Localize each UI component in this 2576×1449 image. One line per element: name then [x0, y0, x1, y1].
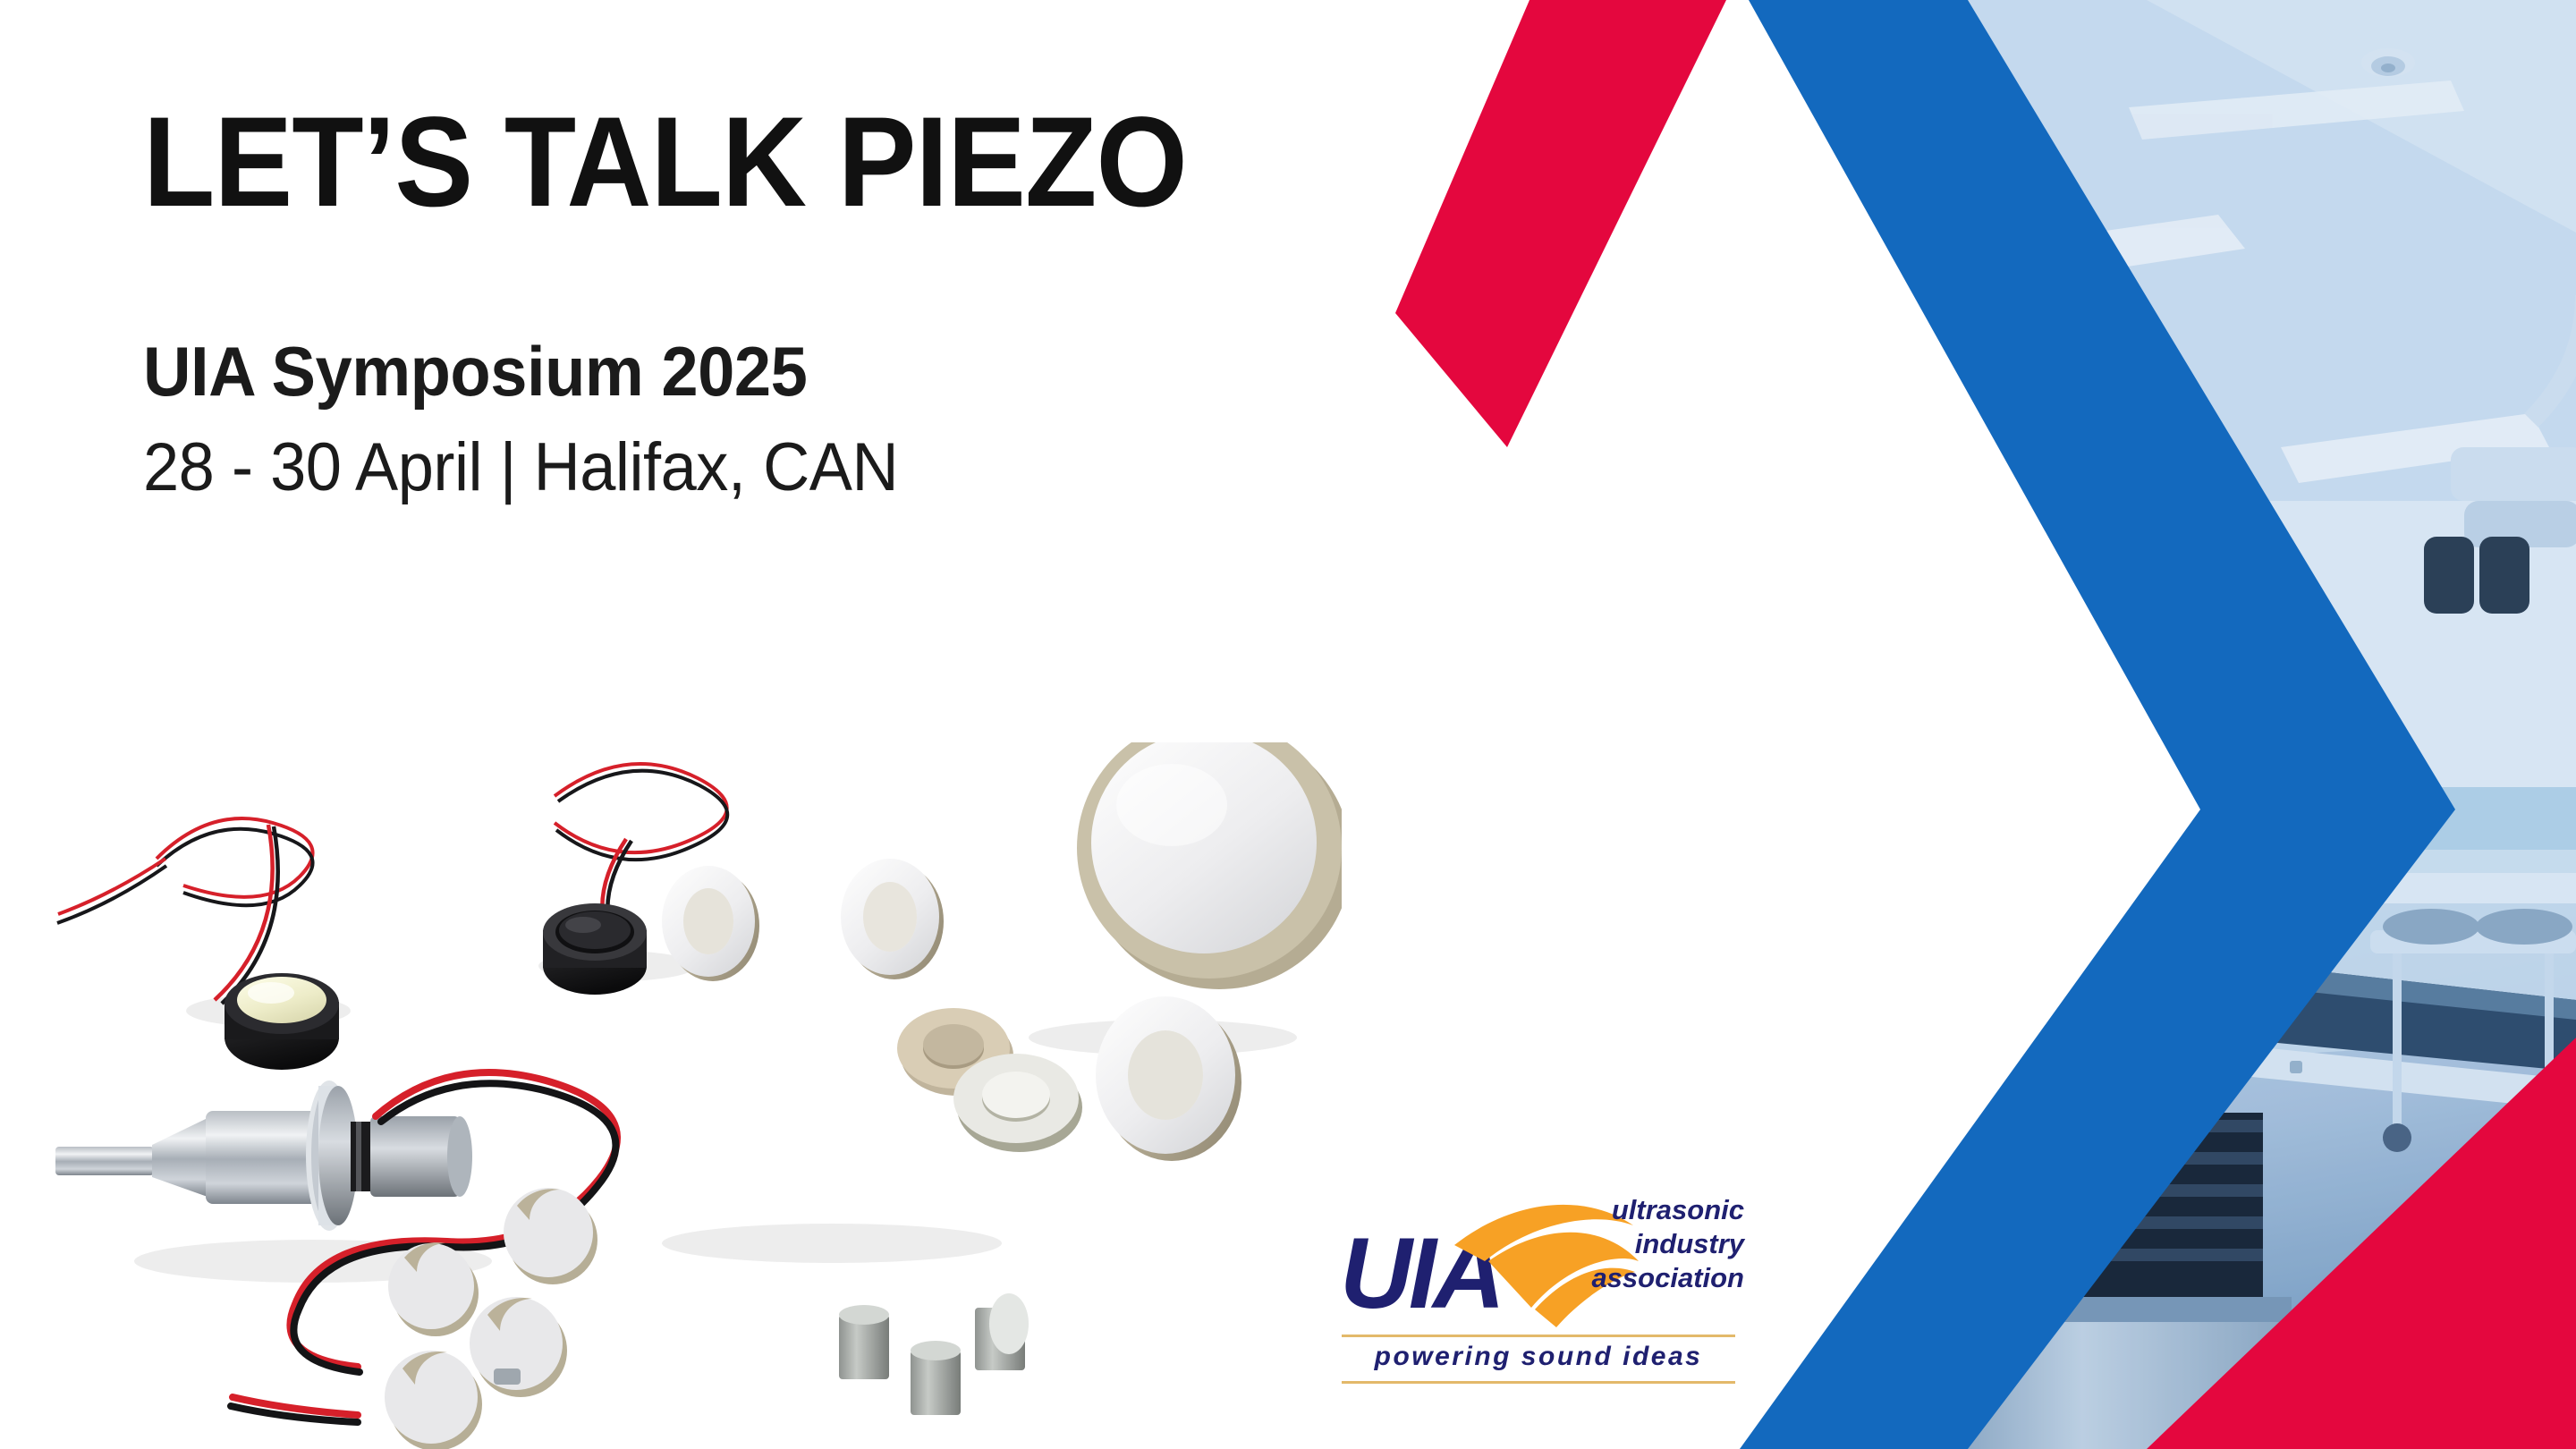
piezo-disc-small-3	[470, 1297, 567, 1397]
wall-panel	[1360, 617, 1467, 921]
piezo-components-svg	[0, 742, 1342, 1449]
piezo-ceramic-ring-4	[953, 1054, 1082, 1152]
piezo-disc-small-4	[385, 1351, 482, 1449]
piezo-cylinder-2	[911, 1341, 961, 1415]
logo-full-name: ultrasonic industry association	[1574, 1193, 1744, 1294]
piezo-transducer-cream	[57, 818, 339, 1070]
piezo-cylinder-3	[975, 1293, 1029, 1370]
logo-line-ultrasonic: ultrasonic	[1574, 1193, 1744, 1227]
red-diagonal-chevron-stripe	[1395, 0, 1726, 447]
page-title: LET’S TALK PIEZO	[143, 98, 1295, 226]
event-date-location: 28 - 30 April | Halifax, CAN	[143, 432, 1333, 504]
promotional-banner: LET’S TALK PIEZO UIA Symposium 2025 28 -…	[0, 0, 2576, 1449]
event-name: UIA Symposium 2025	[143, 335, 1333, 409]
logo-rule-bottom	[1342, 1381, 1735, 1384]
uia-logo: UIA ultrasonic industry association powe…	[1333, 1177, 1744, 1392]
logo-rule-top	[1342, 1335, 1735, 1337]
anesthesia-machine	[1529, 760, 1753, 1152]
text-block: LET’S TALK PIEZO UIA Symposium 2025 28 -…	[143, 98, 1395, 504]
piezo-ceramic-ring-2	[841, 859, 944, 979]
logo-line-industry: industry	[1574, 1227, 1744, 1261]
piezo-ceramic-ring-5	[1096, 996, 1241, 1161]
piezo-cylinder-1	[839, 1305, 889, 1379]
piezo-product-photo	[0, 742, 1342, 1449]
logo-line-association: association	[1574, 1261, 1744, 1295]
logo-tagline: powering sound ideas	[1342, 1342, 1735, 1372]
piezo-disc-large	[1077, 742, 1342, 989]
